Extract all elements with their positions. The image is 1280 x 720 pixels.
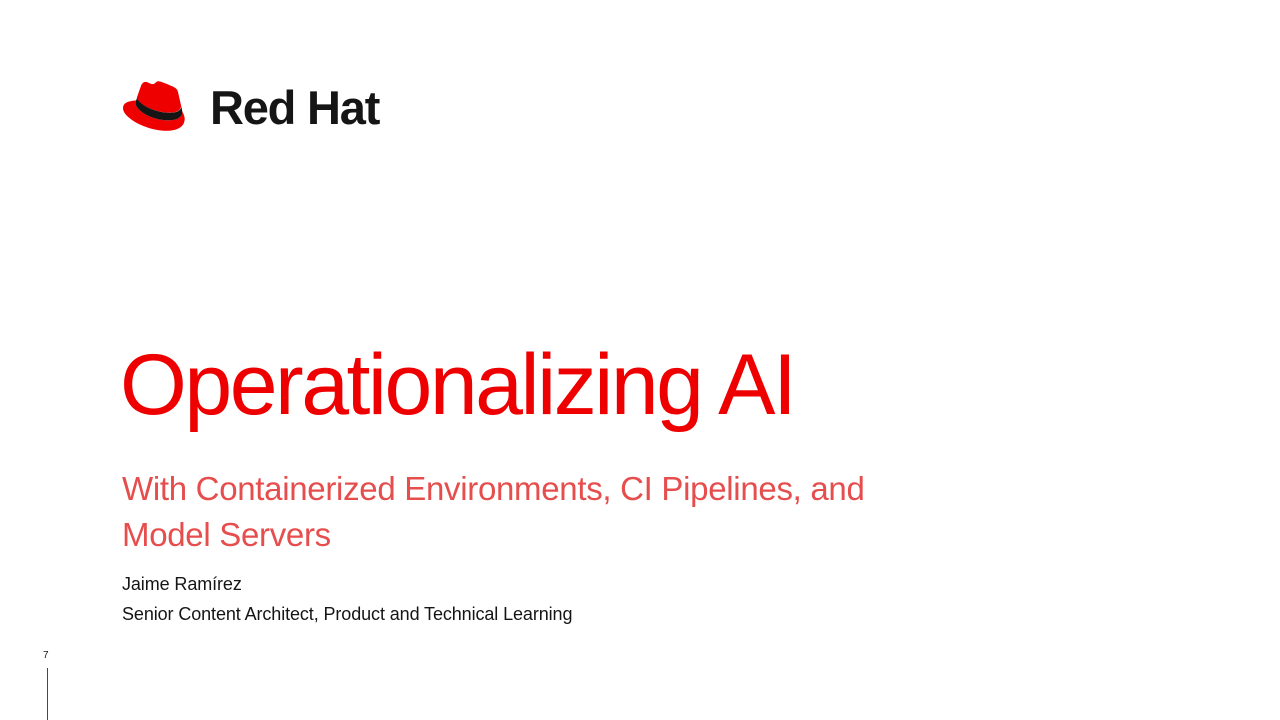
presenter-name: Jaime Ramírez	[122, 572, 242, 597]
slide-title: Operationalizing AI	[120, 340, 794, 430]
red-hat-fedora-icon	[122, 76, 200, 138]
red-hat-logo: Red Hat	[122, 72, 379, 142]
presentation-slide: Red Hat Operationalizing AI With Contain…	[0, 0, 1280, 720]
presenter-role: Senior Content Architect, Product and Te…	[122, 602, 572, 627]
red-hat-logo-text: Red Hat	[210, 84, 379, 131]
page-number: 7	[43, 650, 49, 661]
page-number-rule	[47, 668, 48, 720]
slide-subtitle: With Containerized Environments, CI Pipe…	[122, 466, 952, 557]
